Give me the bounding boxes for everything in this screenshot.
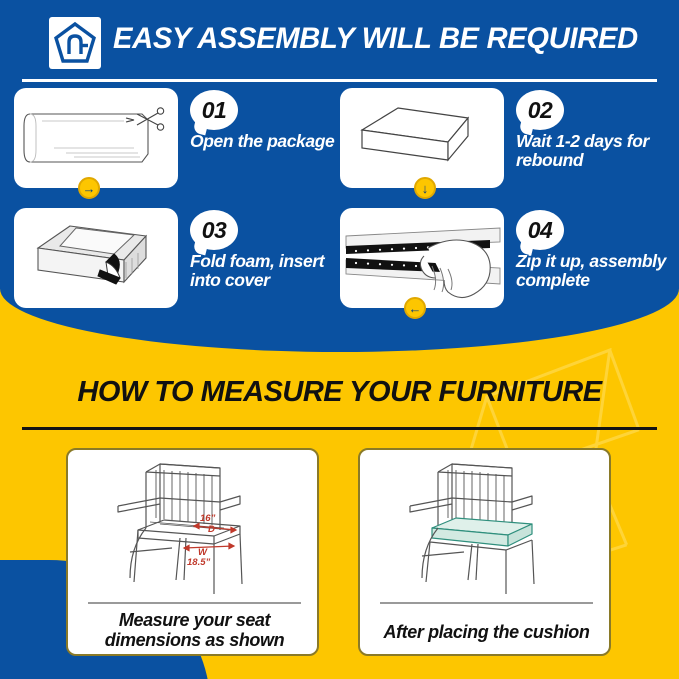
hand-zipping-cushion-art bbox=[340, 208, 504, 308]
depth-value-label: 16” bbox=[200, 513, 216, 524]
step-04-label: Zip it up, assembly complete bbox=[516, 252, 671, 290]
step-04-illustration-card: ← bbox=[340, 208, 504, 308]
step-04: ← 04 Zip it up, assembly complete bbox=[340, 208, 670, 316]
width-value-label: 18.5” bbox=[187, 557, 210, 568]
step-01-text: 01 Open the package bbox=[190, 90, 345, 151]
arrow-down-icon: ↓ bbox=[414, 177, 436, 199]
infographic-root: EASY ASSEMBLY WILL BE REQUIRED bbox=[0, 0, 679, 679]
foam-slab-art bbox=[340, 88, 504, 188]
page-title: EASY ASSEMBLY WILL BE REQUIRED bbox=[113, 22, 638, 56]
step-04-number-bubble: 04 bbox=[516, 210, 564, 250]
measure-section: HOW TO MEASURE YOUR FURNITURE bbox=[0, 330, 679, 679]
chair-with-dimensions-art: 16” D W 18.5” bbox=[68, 452, 317, 594]
step-03-number-bubble: 03 bbox=[190, 210, 238, 250]
step-04-text: 04 Zip it up, assembly complete bbox=[516, 210, 671, 290]
measure-card-caption-2: After placing the cushion bbox=[368, 622, 605, 642]
step-01: → 01 Open the package bbox=[14, 88, 344, 196]
step-01-number-bubble: 01 bbox=[190, 90, 238, 130]
foam-into-cover-art bbox=[14, 208, 178, 308]
arrow-right-icon: → bbox=[78, 177, 100, 199]
assembly-section: EASY ASSEMBLY WILL BE REQUIRED bbox=[0, 0, 679, 352]
step-01-illustration-card: → bbox=[14, 88, 178, 188]
chair-with-cushion-art bbox=[360, 452, 609, 594]
measure-card-divider bbox=[380, 602, 593, 604]
step-01-number: 01 bbox=[202, 97, 227, 124]
arrow-left-icon: ← bbox=[404, 297, 426, 319]
step-03-text: 03 Fold foam, insert into cover bbox=[190, 210, 345, 290]
measure-section-title: HOW TO MEASURE YOUR FURNITURE bbox=[0, 376, 679, 409]
step-04-number: 04 bbox=[528, 217, 553, 244]
package-with-scissors-art bbox=[14, 88, 178, 188]
step-03-illustration-card bbox=[14, 208, 178, 308]
step-03-label: Fold foam, insert into cover bbox=[190, 252, 345, 290]
step-03: 03 Fold foam, insert into cover bbox=[14, 208, 344, 316]
step-03-number: 03 bbox=[202, 217, 227, 244]
step-02-illustration-card: ↓ bbox=[340, 88, 504, 188]
assembly-header: EASY ASSEMBLY WILL BE REQUIRED bbox=[0, 8, 679, 70]
header-divider bbox=[22, 79, 657, 82]
measure-card-divider bbox=[88, 602, 301, 604]
measure-card-caption-1: Measure your seat dimensions as shown bbox=[76, 610, 313, 650]
step-02-label: Wait 1-2 days for rebound bbox=[516, 132, 671, 170]
depth-letter-label: D bbox=[208, 524, 215, 535]
step-02-number-bubble: 02 bbox=[516, 90, 564, 130]
measure-card-dimensions: 16” D W 18.5” Measure your seat dimensio… bbox=[66, 448, 319, 656]
step-02-number: 02 bbox=[528, 97, 553, 124]
step-02-text: 02 Wait 1-2 days for rebound bbox=[516, 90, 671, 170]
measure-card-cushion: After placing the cushion bbox=[358, 448, 611, 656]
step-01-label: Open the package bbox=[190, 132, 345, 151]
home-pentagon-icon bbox=[49, 17, 101, 69]
step-02: ↓ 02 Wait 1-2 days for rebound bbox=[340, 88, 670, 196]
measure-cards: 16” D W 18.5” Measure your seat dimensio… bbox=[0, 448, 679, 658]
measure-title-divider bbox=[22, 427, 657, 430]
